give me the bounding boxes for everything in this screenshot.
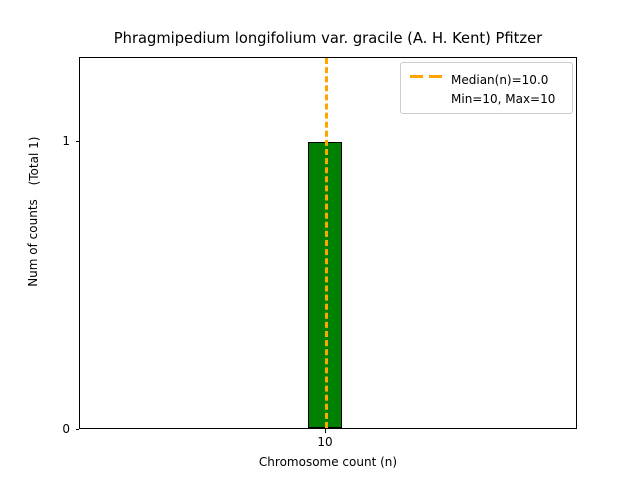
dashed-line-icon bbox=[409, 70, 445, 84]
x-axis-label: Chromosome count (n) bbox=[79, 455, 577, 469]
y-axis-label-total: (Total 1) bbox=[28, 101, 40, 221]
xtick-label-10: 10 bbox=[300, 436, 350, 448]
ytick-label-0: 0 bbox=[40, 423, 70, 435]
legend-entry-median: Median(n)=10.0 Min=10, Max=10 bbox=[409, 69, 564, 107]
legend-entry-text: Median(n)=10.0 Min=10, Max=10 bbox=[451, 69, 555, 107]
legend: Median(n)=10.0 Min=10, Max=10 bbox=[400, 62, 573, 114]
median-line bbox=[325, 58, 328, 428]
xtick-mark-10 bbox=[325, 429, 326, 433]
ytick-label-1: 1 bbox=[40, 135, 70, 147]
legend-label-minmax: Min=10, Max=10 bbox=[451, 92, 555, 106]
legend-label-median: Median(n)=10.0 bbox=[451, 73, 548, 87]
chart-title: Phragmipedium longifolium var. gracile (… bbox=[79, 30, 577, 48]
figure-canvas: Phragmipedium longifolium var. gracile (… bbox=[0, 0, 640, 480]
ytick-mark-1 bbox=[76, 141, 80, 142]
ytick-mark-0 bbox=[76, 429, 80, 430]
